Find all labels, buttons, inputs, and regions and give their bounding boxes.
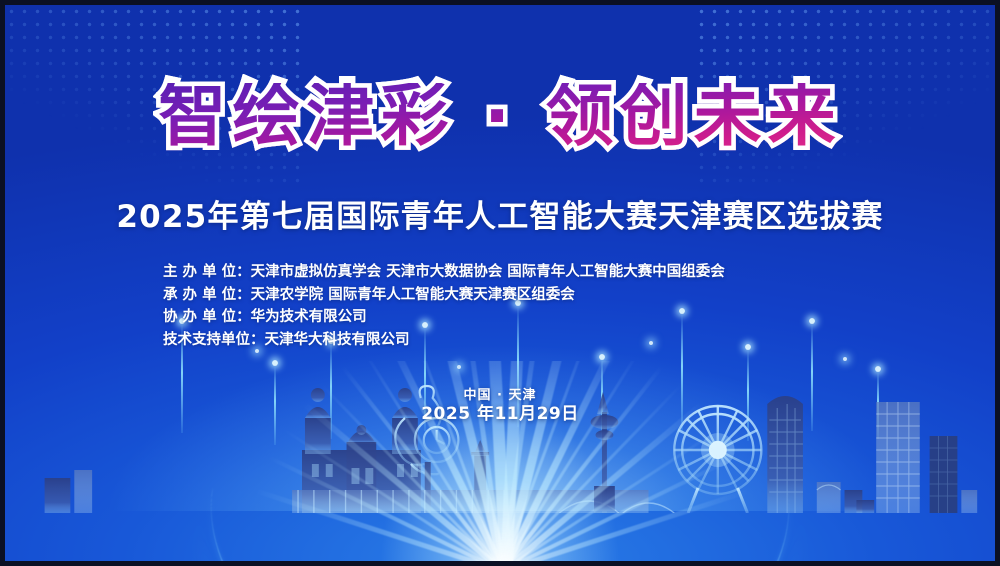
event-location: 中国 · 天津: [5, 387, 995, 404]
main-title-text: 智绘津彩 · 领创未来: [158, 83, 841, 151]
organizer-value: 天津华大科技有限公司: [265, 332, 410, 348]
organizer-row: 承 办 单 位：天津农学院 国际青年人工智能大赛天津赛区组委会: [163, 284, 725, 307]
organizer-row: 技术支持单位：天津华大科技有限公司: [163, 329, 725, 352]
organizer-label: 承 办 单 位：: [163, 287, 251, 303]
organizer-label: 协 办 单 位：: [163, 309, 251, 325]
main-title: 智绘津彩 · 领创未来 智绘津彩 · 领创未来: [5, 83, 995, 151]
organizer-label: 技术支持单位：: [163, 332, 265, 348]
poster-content: 智绘津彩 · 领创未来 智绘津彩 · 领创未来 2025年第七届国际青年人工智能…: [5, 5, 995, 561]
organizer-value: 天津农学院 国际青年人工智能大赛天津赛区组委会: [251, 287, 575, 303]
organizer-value: 天津市虚拟仿真学会 天津市大数据协会 国际青年人工智能大赛中国组委会: [251, 264, 725, 280]
organizer-value: 华为技术有限公司: [251, 309, 367, 325]
event-date: 2025 年11月29日: [5, 404, 995, 425]
organizer-label: 主 办 单 位：: [163, 264, 251, 280]
organizer-list: 主 办 单 位：天津市虚拟仿真学会 天津市大数据协会 国际青年人工智能大赛中国组…: [163, 261, 725, 351]
event-poster: 智绘津彩 · 领创未来 智绘津彩 · 领创未来 2025年第七届国际青年人工智能…: [0, 0, 1000, 566]
organizer-row: 主 办 单 位：天津市虚拟仿真学会 天津市大数据协会 国际青年人工智能大赛中国组…: [163, 261, 725, 284]
subtitle: 2025年第七届国际青年人工智能大赛天津赛区选拔赛: [5, 191, 995, 236]
organizer-row: 协 办 单 位：华为技术有限公司: [163, 306, 725, 329]
event-location-block: 中国 · 天津 2025 年11月29日: [5, 387, 995, 425]
